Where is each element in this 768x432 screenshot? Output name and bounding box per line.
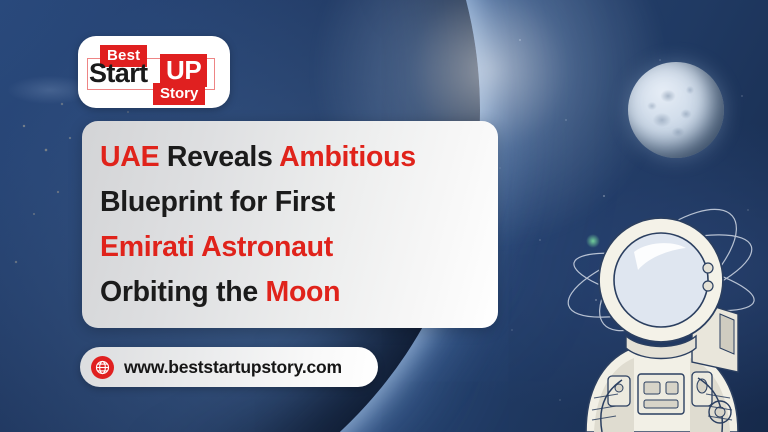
headline-line: Blueprint for First — [100, 180, 482, 225]
astronaut-body — [586, 218, 738, 432]
headline-segment: UAE — [100, 141, 159, 173]
website-url-pill[interactable]: www.beststartupstory.com — [80, 347, 378, 387]
astronaut-illustration — [542, 196, 768, 432]
headline-segment: Emirati Astronaut — [100, 231, 333, 263]
headline-line: Orbiting the Moon — [100, 270, 482, 315]
headline-segment: Ambitious — [279, 141, 416, 173]
website-url-text: www.beststartupstory.com — [124, 357, 342, 378]
headline-segment: Moon — [266, 276, 341, 308]
headline-segment: Orbiting the — [100, 276, 266, 308]
logo-word-story: Story — [153, 83, 205, 105]
headline-card: UAE Reveals Ambitious Blueprint for Firs… — [82, 121, 498, 328]
logo-word-start: Start — [89, 60, 148, 87]
moon-craters — [628, 62, 724, 158]
logo-inner: Best Start UP Story — [78, 36, 230, 108]
globe-icon — [91, 356, 114, 379]
headline-segment: Reveals — [159, 141, 279, 173]
page-title: UAE Reveals Ambitious Blueprint for Firs… — [82, 135, 498, 315]
headline-segment: Blueprint for First — [100, 186, 335, 218]
news-banner: Best Start UP Story UAE Reveals Ambitiou… — [0, 0, 768, 432]
brand-logo[interactable]: Best Start UP Story — [78, 36, 230, 108]
headline-line: UAE Reveals Ambitious — [100, 135, 482, 180]
headline-line: Emirati Astronaut — [100, 225, 482, 270]
moon — [628, 62, 724, 158]
